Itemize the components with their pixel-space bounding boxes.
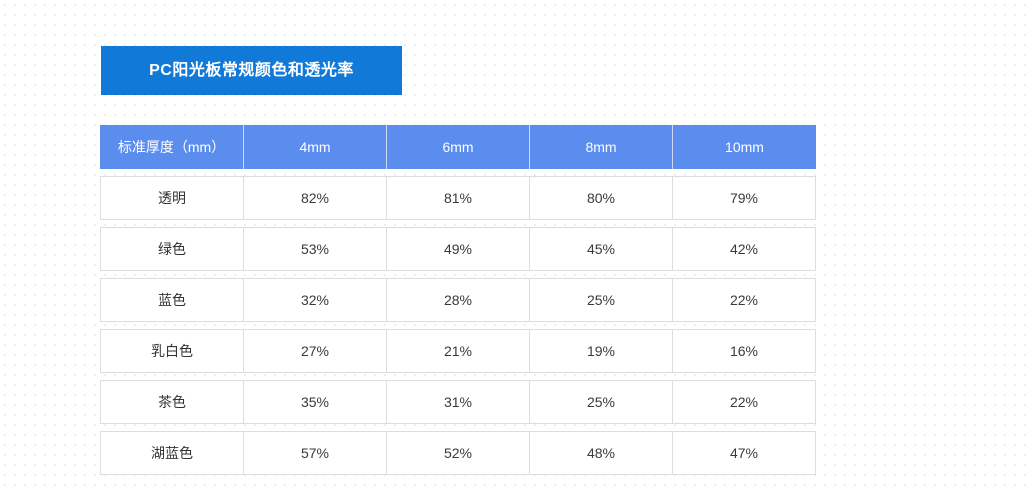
cell-green-10mm: 42% (673, 227, 816, 271)
cell-lake-blue-8mm: 48% (530, 431, 673, 475)
table-row: 绿色 53% 49% 45% 42% (100, 227, 816, 271)
column-header-10mm: 10mm (673, 125, 816, 169)
cell-milky-white-10mm: 16% (673, 329, 816, 373)
cell-transparent-10mm: 79% (673, 176, 816, 220)
cell-blue-4mm: 32% (244, 278, 387, 322)
row-label-milky-white: 乳白色 (100, 329, 244, 373)
cell-brown-4mm: 35% (244, 380, 387, 424)
cell-lake-blue-6mm: 52% (387, 431, 530, 475)
cell-lake-blue-4mm: 57% (244, 431, 387, 475)
table-row: 茶色 35% 31% 25% 22% (100, 380, 816, 424)
cell-lake-blue-10mm: 47% (673, 431, 816, 475)
column-header-thickness: 标准厚度（mm） (100, 125, 244, 169)
cell-transparent-6mm: 81% (387, 176, 530, 220)
spec-table-container: 标准厚度（mm） 4mm 6mm 8mm 10mm 透明 82% 81% 80%… (100, 118, 816, 482)
row-label-lake-blue: 湖蓝色 (100, 431, 244, 475)
title-banner: PC阳光板常规颜色和透光率 (101, 46, 402, 95)
cell-green-8mm: 45% (530, 227, 673, 271)
table-row: 湖蓝色 57% 52% 48% 47% (100, 431, 816, 475)
column-header-4mm: 4mm (244, 125, 387, 169)
row-label-green: 绿色 (100, 227, 244, 271)
cell-blue-6mm: 28% (387, 278, 530, 322)
page-canvas: PC阳光板常规颜色和透光率 标准厚度（mm） 4mm 6mm 8mm 10mm (0, 0, 1030, 492)
table-row: 乳白色 27% 21% 19% 16% (100, 329, 816, 373)
cell-milky-white-4mm: 27% (244, 329, 387, 373)
table-header-row: 标准厚度（mm） 4mm 6mm 8mm 10mm (100, 125, 816, 169)
cell-transparent-8mm: 80% (530, 176, 673, 220)
row-label-transparent: 透明 (100, 176, 244, 220)
cell-green-6mm: 49% (387, 227, 530, 271)
column-header-6mm: 6mm (387, 125, 530, 169)
cell-green-4mm: 53% (244, 227, 387, 271)
cell-milky-white-8mm: 19% (530, 329, 673, 373)
row-label-blue: 蓝色 (100, 278, 244, 322)
cell-brown-8mm: 25% (530, 380, 673, 424)
table-body: 透明 82% 81% 80% 79% 绿色 53% 49% 45% 42% 蓝色… (100, 176, 816, 475)
cell-blue-8mm: 25% (530, 278, 673, 322)
row-label-brown: 茶色 (100, 380, 244, 424)
column-header-8mm: 8mm (530, 125, 673, 169)
cell-blue-10mm: 22% (673, 278, 816, 322)
page-title: PC阳光板常规颜色和透光率 (149, 63, 354, 79)
transmittance-table: 标准厚度（mm） 4mm 6mm 8mm 10mm 透明 82% 81% 80%… (100, 118, 816, 482)
table-header: 标准厚度（mm） 4mm 6mm 8mm 10mm (100, 125, 816, 169)
cell-brown-10mm: 22% (673, 380, 816, 424)
cell-milky-white-6mm: 21% (387, 329, 530, 373)
table-row: 透明 82% 81% 80% 79% (100, 176, 816, 220)
table-row: 蓝色 32% 28% 25% 22% (100, 278, 816, 322)
cell-brown-6mm: 31% (387, 380, 530, 424)
cell-transparent-4mm: 82% (244, 176, 387, 220)
